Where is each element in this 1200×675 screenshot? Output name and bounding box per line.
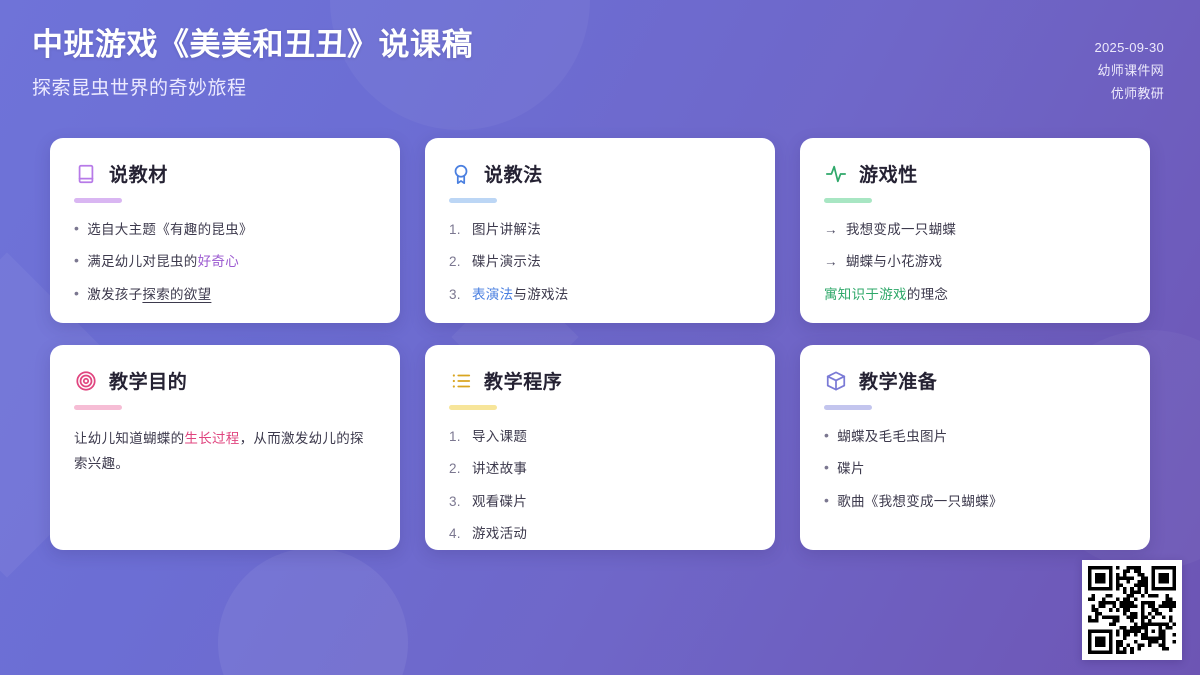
list-item: 2.讲述故事: [449, 459, 751, 479]
card-header: 教学准备: [824, 367, 1126, 394]
list-item-text: 蝴蝶与小花游戏: [846, 252, 943, 272]
list-item-text: 表演法与游戏法: [472, 285, 569, 305]
list-marker: 3.: [449, 285, 464, 305]
bullet-list: •蝴蝶及毛毛虫图片•碟片•歌曲《我想变成一只蝴蝶》: [824, 427, 1126, 512]
list-item-text: 我想变成一只蝴蝶: [846, 220, 956, 240]
list-marker: 2.: [449, 459, 464, 479]
card-title: 教学准备: [859, 367, 937, 394]
text-run: 我想变成一只蝴蝶: [846, 222, 956, 237]
list-marker: 1.: [449, 220, 464, 240]
card-header: 教学目的: [74, 367, 376, 394]
bullet-list: •选自大主题《有趣的昆虫》•满足幼儿对昆虫的好奇心•激发孩子探索的欲望: [74, 220, 376, 305]
card-title: 说教材: [109, 160, 168, 187]
list-item-text: 导入课题: [472, 427, 527, 447]
text-run: 蝴蝶及毛毛虫图片: [837, 429, 947, 444]
decorative-circle-bottom: [218, 548, 408, 675]
list-item: 寓知识于游戏的理念: [824, 285, 1126, 305]
list-marker: 2.: [449, 252, 464, 272]
list-icon: [449, 369, 473, 393]
book-icon: [74, 162, 98, 186]
list-item: •蝴蝶及毛毛虫图片: [824, 427, 1126, 447]
numbered-list: 1.图片讲解法2.碟片演示法3.表演法与游戏法: [449, 220, 751, 305]
list-item: •碟片: [824, 459, 1126, 479]
accent-bar: [824, 198, 872, 203]
list-item-text: 图片讲解法: [472, 220, 541, 240]
bullet-icon: •: [74, 253, 79, 267]
text-run: 让幼儿知道蝴蝶的: [74, 431, 184, 446]
list-item-text: 选自大主题《有趣的昆虫》: [87, 220, 253, 240]
card-grid: 说教材•选自大主题《有趣的昆虫》•满足幼儿对昆虫的好奇心•激发孩子探索的欲望说教…: [50, 138, 1150, 550]
award-icon: [449, 162, 473, 186]
qr-code[interactable]: [1082, 560, 1182, 660]
list-item: 4.游戏活动: [449, 524, 751, 544]
text-run: 的理念: [907, 287, 948, 302]
text-run: 图片讲解法: [472, 222, 541, 237]
page-subtitle: 探索昆虫世界的奇妙旅程: [32, 73, 473, 100]
card-header: 说教法: [449, 160, 751, 187]
card-procedure[interactable]: 教学程序1.导入课题2.讲述故事3.观看碟片4.游戏活动: [425, 345, 775, 550]
card-preparation[interactable]: 教学准备•蝴蝶及毛毛虫图片•碟片•歌曲《我想变成一只蝴蝶》: [800, 345, 1150, 550]
bullet-icon: •: [74, 221, 79, 235]
arrow-icon: →: [824, 252, 838, 272]
list-item-text: 碟片演示法: [472, 252, 541, 272]
card-objective[interactable]: 教学目的让幼儿知道蝴蝶的生长过程，从而激发幼儿的探索兴趣。: [50, 345, 400, 550]
accent-bar: [74, 405, 122, 410]
list-item: 1.图片讲解法: [449, 220, 751, 240]
bullet-icon: •: [824, 460, 829, 474]
card-method[interactable]: 说教法1.图片讲解法2.碟片演示法3.表演法与游戏法: [425, 138, 775, 323]
highlight-run: 好奇心: [198, 254, 239, 269]
text-run: 与游戏法: [513, 287, 568, 302]
card-title: 教学程序: [484, 367, 562, 394]
list-item-text: 碟片: [837, 459, 865, 479]
list-item: 3.观看碟片: [449, 492, 751, 512]
list-item: →蝴蝶与小花游戏: [824, 252, 1126, 272]
card-title: 教学目的: [109, 367, 187, 394]
list-item: •歌曲《我想变成一只蝴蝶》: [824, 492, 1126, 512]
accent-bar: [74, 198, 122, 203]
text-run: 选自大主题《有趣的昆虫》: [87, 222, 253, 237]
box-icon: [824, 369, 848, 393]
list-item-text: 讲述故事: [472, 459, 527, 479]
accent-bar: [449, 405, 497, 410]
numbered-list: 1.导入课题2.讲述故事3.观看碟片4.游戏活动: [449, 427, 751, 544]
text-run: 碟片演示法: [472, 254, 541, 269]
activity-icon: [824, 162, 848, 186]
list-marker: 4.: [449, 524, 464, 544]
list-item: 3.表演法与游戏法: [449, 285, 751, 305]
list-item-text: 观看碟片: [472, 492, 527, 512]
accent-bar: [449, 198, 497, 203]
list-item-text: 歌曲《我想变成一只蝴蝶》: [837, 492, 1003, 512]
text-run: 碟片: [837, 461, 865, 476]
list-item-text: 蝴蝶及毛毛虫图片: [837, 427, 947, 447]
bullet-icon: •: [824, 428, 829, 442]
list-item: 2.碟片演示法: [449, 252, 751, 272]
target-icon: [74, 369, 98, 393]
list-item: •满足幼儿对昆虫的好奇心: [74, 252, 376, 272]
list-marker: 1.: [449, 427, 464, 447]
title-block: 中班游戏《美美和丑丑》说课稿 探索昆虫世界的奇妙旅程: [32, 26, 473, 100]
list-item: 1.导入课题: [449, 427, 751, 447]
card-header: 教学程序: [449, 367, 751, 394]
site-label: 幼师课件网: [1095, 59, 1165, 82]
text-run: 讲述故事: [472, 461, 527, 476]
list-item-text: 满足幼儿对昆虫的好奇心: [87, 252, 239, 272]
list-item: •激发孩子探索的欲望: [74, 285, 376, 305]
highlight-run: 探索的欲望: [142, 287, 211, 302]
text-run: 歌曲《我想变成一只蝴蝶》: [837, 494, 1003, 509]
highlight-run: 生长过程: [184, 431, 239, 446]
list-item-text: 激发孩子探索的欲望: [87, 285, 211, 305]
text-run: 激发孩子: [87, 287, 142, 302]
card-paragraph: 让幼儿知道蝴蝶的生长过程，从而激发幼儿的探索兴趣。: [74, 427, 376, 477]
card-playfulness[interactable]: 游戏性→我想变成一只蝴蝶→蝴蝶与小花游戏寓知识于游戏的理念: [800, 138, 1150, 323]
slide-header: 中班游戏《美美和丑丑》说课稿 探索昆虫世界的奇妙旅程 2025-09-30 幼师…: [0, 0, 1200, 130]
list-item-text: 寓知识于游戏的理念: [824, 285, 948, 305]
org-label: 优师教研: [1095, 82, 1165, 105]
accent-bar: [824, 405, 872, 410]
card-header: 游戏性: [824, 160, 1126, 187]
text-run: 满足幼儿对昆虫的: [87, 254, 197, 269]
arrow-icon: →: [824, 220, 838, 240]
list-item-text: 游戏活动: [472, 524, 527, 544]
meta-block: 2025-09-30 幼师课件网 优师教研: [1095, 26, 1165, 105]
list-item: →我想变成一只蝴蝶: [824, 220, 1126, 240]
highlight-run: 表演法: [472, 287, 513, 302]
card-header: 说教材: [74, 160, 376, 187]
highlight-run: 寓知识于游戏: [824, 287, 907, 302]
text-run: 蝴蝶与小花游戏: [846, 254, 943, 269]
date-label: 2025-09-30: [1095, 36, 1165, 59]
bullet-icon: •: [824, 493, 829, 507]
list-item: •选自大主题《有趣的昆虫》: [74, 220, 376, 240]
bullet-icon: •: [74, 286, 79, 300]
arrow-list: →我想变成一只蝴蝶→蝴蝶与小花游戏寓知识于游戏的理念: [824, 220, 1126, 305]
card-title: 游戏性: [859, 160, 918, 187]
slide-canvas: 中班游戏《美美和丑丑》说课稿 探索昆虫世界的奇妙旅程 2025-09-30 幼师…: [0, 0, 1200, 675]
page-title: 中班游戏《美美和丑丑》说课稿: [32, 26, 473, 63]
text-run: 导入课题: [472, 429, 527, 444]
text-run: 观看碟片: [472, 494, 527, 509]
list-marker: 3.: [449, 492, 464, 512]
card-title: 说教法: [484, 160, 543, 187]
text-run: 游戏活动: [472, 526, 527, 541]
card-textbook[interactable]: 说教材•选自大主题《有趣的昆虫》•满足幼儿对昆虫的好奇心•激发孩子探索的欲望: [50, 138, 400, 323]
